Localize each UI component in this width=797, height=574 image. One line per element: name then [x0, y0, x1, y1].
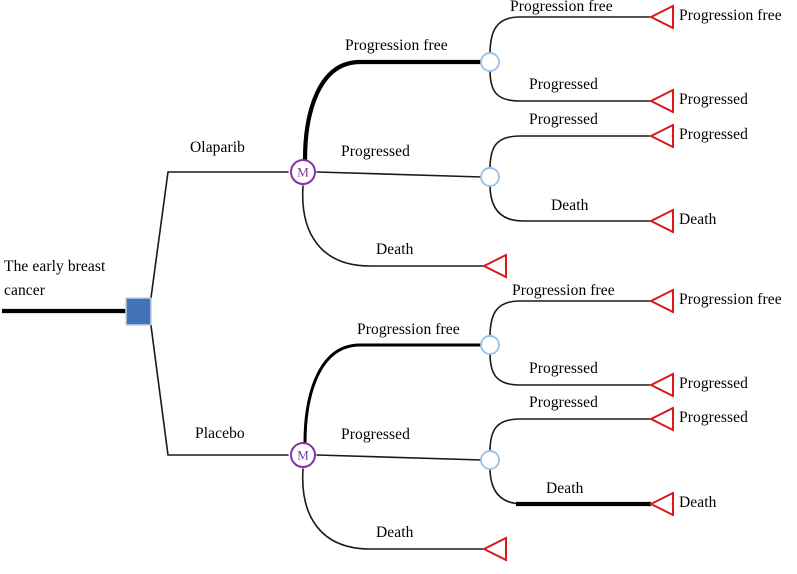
edge-olaparib-progressed [317, 172, 482, 177]
placebo-pf-chance-node[interactable] [481, 336, 499, 354]
placebo-progressed-chance-node[interactable] [481, 451, 499, 469]
terminal-placebo-pf-pf[interactable] [651, 290, 673, 312]
terminal-placebo-prog-death[interactable] [651, 493, 673, 515]
root-label-line1: The early breast [4, 255, 139, 279]
root-label: The early breast cancer [4, 255, 139, 303]
markov-letter: M [297, 165, 309, 180]
edge-placebo-pf-to-pf [490, 301, 651, 337]
edge-label-placebo-pf-to-pf: Progression free [512, 282, 615, 299]
edge-placebo-prog-to-progressed [490, 419, 651, 452]
edge-label-olaparib-progressed: Progressed [341, 143, 410, 160]
edge-label-olaparib-progression-free: Progression free [345, 37, 448, 54]
olaparib-pf-chance-node[interactable] [481, 53, 499, 71]
terminal-placebo-prog-progressed[interactable] [651, 408, 673, 430]
terminal-label-olaparib-pf-pf: Progression free [679, 7, 782, 24]
terminal-olaparib-prog-death[interactable] [651, 210, 673, 232]
edge-label-olaparib-pf-to-progressed: Progressed [529, 76, 598, 93]
terminal-placebo-pf-progressed[interactable] [651, 374, 673, 396]
edge-label-placebo: Placebo [195, 425, 245, 442]
terminal-placebo-death[interactable] [484, 538, 506, 560]
terminal-label-placebo-pf-progressed: Progressed [679, 375, 748, 392]
edge-label-olaparib-death: Death [376, 241, 414, 258]
edge-olaparib-pf-to-pf [490, 17, 651, 54]
terminal-label-placebo-pf-pf: Progression free [679, 291, 782, 308]
markov-letter: M [297, 448, 309, 463]
edge-placebo-progressed [317, 455, 482, 460]
edge-label-olaparib-pf-to-pf: Progression free [510, 0, 613, 15]
terminal-olaparib-pf-progressed[interactable] [651, 90, 673, 112]
decision-tree-diagram: M M The early breast cancer Olaparib Pla… [0, 0, 797, 574]
terminal-olaparib-pf-pf[interactable] [651, 6, 673, 28]
edge-label-placebo-death: Death [376, 524, 414, 541]
terminal-label-placebo-prog-progressed: Progressed [679, 409, 748, 426]
edge-root-to-olaparib [150, 172, 288, 305]
terminal-label-placebo-prog-death: Death [679, 494, 717, 511]
edge-label-olaparib-prog-to-death: Death [551, 197, 589, 214]
edge-label-placebo-prog-to-death: Death [546, 480, 584, 497]
terminal-label-olaparib-prog-progressed: Progressed [679, 126, 748, 143]
edge-label-olaparib-prog-to-progressed: Progressed [529, 111, 598, 128]
terminal-olaparib-prog-progressed[interactable] [651, 125, 673, 147]
terminal-label-olaparib-pf-progressed: Progressed [679, 91, 748, 108]
edge-label-placebo-progressed: Progressed [341, 426, 410, 443]
edge-olaparib-prog-to-progressed [490, 136, 651, 169]
terminal-olaparib-death[interactable] [484, 255, 506, 277]
placebo-markov-node[interactable]: M [291, 443, 315, 467]
edge-label-placebo-prog-to-progressed: Progressed [529, 394, 598, 411]
edge-label-placebo-progression-free: Progression free [357, 321, 460, 338]
olaparib-progressed-chance-node[interactable] [481, 168, 499, 186]
olaparib-markov-node[interactable]: M [291, 160, 315, 184]
edge-label-olaparib: Olaparib [190, 139, 245, 156]
terminal-label-olaparib-prog-death: Death [679, 211, 717, 228]
root-label-line2: cancer [4, 279, 139, 303]
edge-label-placebo-pf-to-progressed: Progressed [529, 360, 598, 377]
